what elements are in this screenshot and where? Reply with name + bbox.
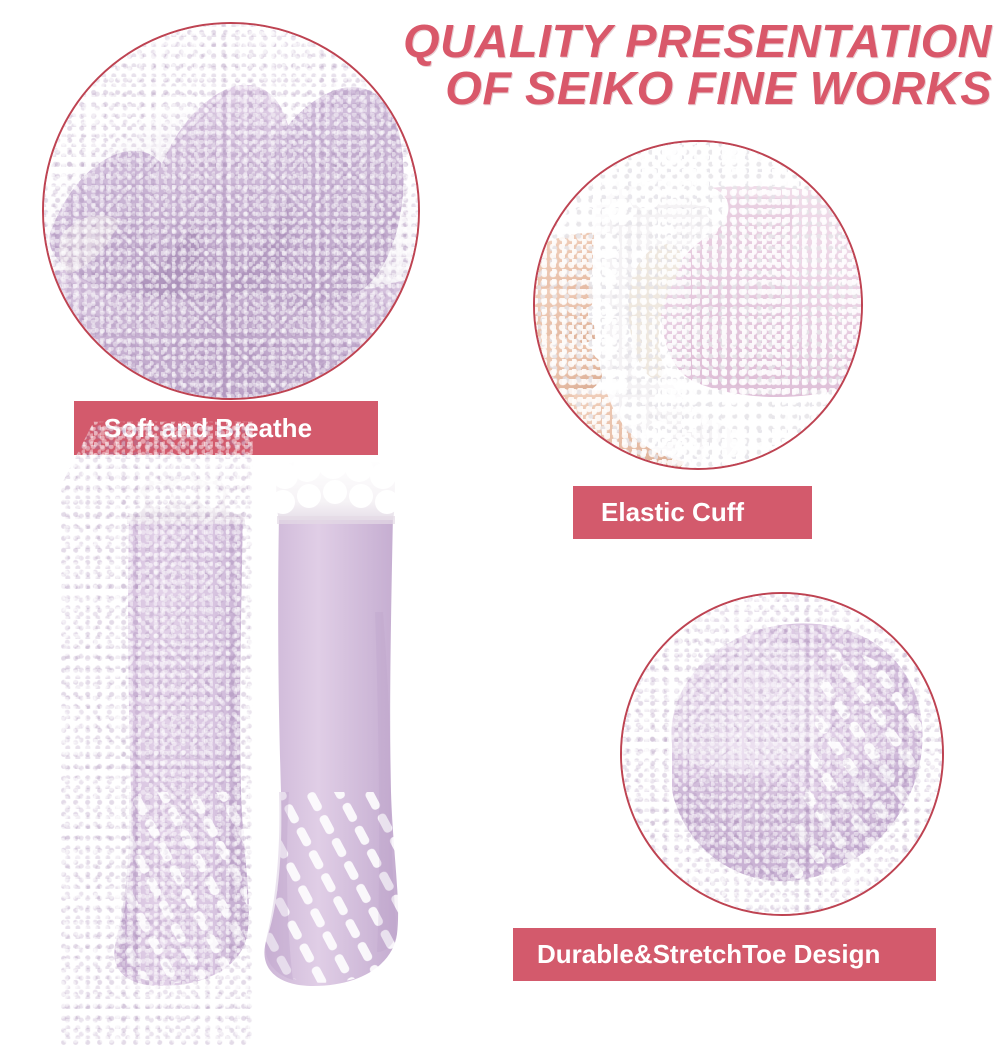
grip-sole-illustration: [622, 594, 942, 914]
sock-pair-photo: [95, 462, 435, 992]
elastic-cuff-illustration: [535, 142, 861, 468]
elastic-cuff-photo: [533, 140, 863, 470]
grip-sole-photo: [620, 592, 944, 916]
headline-line-2: OF SEIKO FINE WORKS: [388, 65, 992, 112]
headline-line-1: QUALITY PRESENTATION: [403, 15, 992, 67]
badge-elastic-cuff: Elastic Cuff: [573, 486, 812, 539]
badge-elastic-cuff-label: Elastic Cuff: [601, 497, 744, 528]
fabric-closeup-photo: [42, 22, 420, 400]
page-title: QUALITY PRESENTATION OF SEIKO FINE WORKS: [388, 18, 992, 112]
badge-durable-stretch-toe-label: Durable&StretchToe Design: [537, 939, 880, 970]
badge-durable-stretch-toe: Durable&StretchToe Design: [513, 928, 936, 981]
badge-soft-and-breathe-label: Soft and Breathe: [104, 413, 312, 444]
fabric-closeup-illustration: [44, 24, 418, 398]
sock-pair-illustration: [95, 462, 435, 992]
badge-soft-and-breathe: Soft and Breathe: [74, 401, 378, 455]
product-infographic: QUALITY PRESENTATION OF SEIKO FINE WORKS: [0, 0, 1000, 1000]
